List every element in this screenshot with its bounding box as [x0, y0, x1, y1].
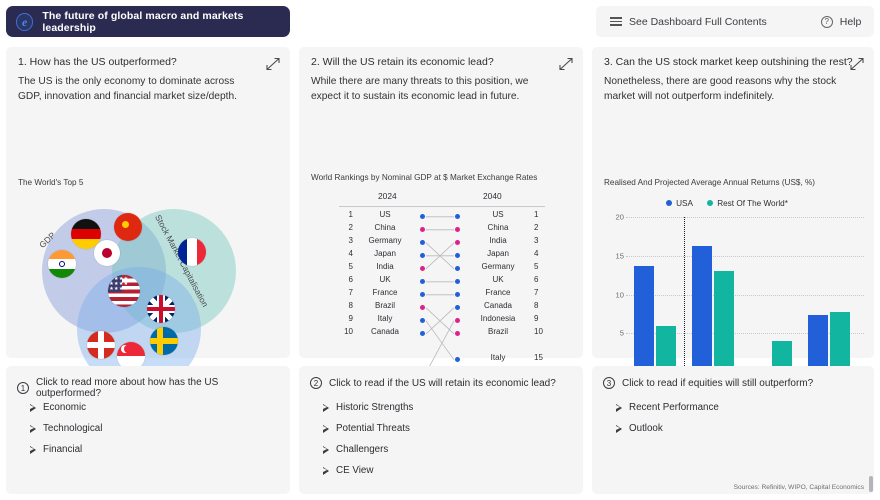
panel-how-has-us-outperformed[interactable]: 1. How has the US outperformed? The US i…: [6, 47, 290, 358]
header: e The future of global macro and markets…: [0, 0, 880, 44]
panel2-subtitle: While there are many threats to this pos…: [311, 74, 549, 104]
badge-number-1: 1: [17, 382, 29, 394]
list-item-label: Technological: [43, 423, 102, 434]
rank-dot-right: [455, 292, 460, 297]
expand-icon[interactable]: [849, 56, 865, 72]
capital-economics-logo-icon: e: [16, 13, 33, 31]
triangle-right-icon: [616, 425, 622, 433]
rank-dot-right: [455, 357, 460, 362]
panel-read-more-retain-lead[interactable]: 2 Click to read if the US will retain it…: [299, 366, 583, 494]
y-axis-tick: 5: [604, 329, 624, 338]
question-mark-icon: ?: [821, 16, 833, 28]
rank-row-right: Brazil10: [331, 327, 553, 340]
country-name-right: China: [465, 223, 531, 232]
bottom3-heading: Click to read if equities will still out…: [622, 378, 813, 389]
rank-row-right: Canada8: [331, 301, 553, 314]
flag-usa[interactable]: ★★★★★★★★★★★★: [108, 275, 140, 307]
see-dashboard-full-contents-button[interactable]: See Dashboard Full Contents: [610, 16, 767, 28]
triangle-right-icon: [323, 467, 329, 475]
flag-france[interactable]: [178, 238, 206, 266]
rank-dot-right: [455, 279, 460, 284]
y-axis-tick: 10: [604, 290, 624, 299]
returns-legend: USA Rest Of The World*: [592, 199, 874, 208]
bar-rest-of-world: [830, 312, 850, 372]
panel-will-us-retain-lead[interactable]: 2. Will the US retain its economic lead?…: [299, 47, 583, 358]
dashboard-title: The future of global macro and markets l…: [42, 10, 290, 34]
rank-number-right: 3: [534, 236, 546, 245]
rank-row-right: Italy15: [331, 353, 553, 366]
rank-dot-right: [455, 214, 460, 219]
rank-number-right: 1: [534, 210, 546, 219]
country-name-right: US: [465, 210, 531, 219]
panel-read-more-equities[interactable]: 3 Click to read if equities will still o…: [592, 366, 874, 494]
panel2-title: 2. Will the US retain its economic lead?: [311, 56, 494, 68]
rank-dot-right: [455, 266, 460, 271]
country-name-right: UK: [465, 275, 531, 284]
rank-number-right: 15: [534, 353, 546, 362]
badge-number-3: 3: [603, 377, 615, 389]
rankings-top-rule: [339, 206, 545, 207]
rank-row-right: Indonesia9: [331, 314, 553, 327]
bottom2-heading-row: 2 Click to read if the US will retain it…: [310, 377, 573, 389]
list-item-label: CE View: [336, 465, 373, 476]
triangle-right-icon: [30, 446, 36, 454]
list-item[interactable]: Recent Performance: [616, 402, 719, 413]
bar-usa: [692, 246, 712, 372]
panel1-title: 1. How has the US outperformed?: [18, 56, 177, 68]
panel3-title: 3. Can the US stock market keep outshini…: [604, 56, 853, 68]
panel1-chart-label: The World's Top 5: [18, 178, 83, 187]
rank-row-right: UK6: [331, 275, 553, 288]
list-item-label: Financial: [43, 444, 82, 455]
list-item[interactable]: Historic Strengths: [323, 402, 413, 413]
scrollbar-thumb[interactable]: [869, 476, 873, 492]
legend-dot-rest-of-world: [707, 200, 713, 206]
rank-number-right: 8: [534, 301, 546, 310]
rank-dot-right: [455, 331, 460, 336]
rank-row-right: Japan4: [331, 249, 553, 262]
list-item[interactable]: Financial: [30, 444, 82, 455]
country-name-right: Japan: [465, 249, 531, 258]
list-item[interactable]: Economic: [30, 402, 86, 413]
flag-switzerland[interactable]: [87, 331, 115, 359]
panel-read-more-outperformed[interactable]: 1 Click to read more about how has the U…: [6, 366, 290, 494]
list-item[interactable]: Potential Threats: [323, 423, 410, 434]
rank-number-right: 4: [534, 249, 546, 258]
rank-dot-right: [455, 305, 460, 310]
rank-dot-right: [455, 240, 460, 245]
list-item[interactable]: Outlook: [616, 423, 663, 434]
rank-number-right: 10: [534, 327, 546, 336]
flag-china[interactable]: [114, 213, 142, 241]
list-item[interactable]: CE View: [323, 465, 373, 476]
country-name-right: Brazil: [465, 327, 531, 336]
panel3-chart-label: Realised And Projected Average Annual Re…: [604, 178, 815, 187]
country-name-right: Italy: [465, 353, 531, 362]
rank-number-right: 7: [534, 288, 546, 297]
panel2-chart-label: World Rankings by Nominal GDP at $ Marke…: [311, 173, 537, 182]
flag-india[interactable]: [48, 250, 76, 278]
legend-label-rest-of-world: Rest Of The World*: [717, 199, 788, 208]
sources-note: Sources: Refinitiv, WIPO, Capital Econom…: [734, 484, 864, 491]
rank-row-right: Germany5: [331, 262, 553, 275]
bar-chart-plot-area: [626, 217, 858, 372]
contents-label: See Dashboard Full Contents: [629, 16, 767, 28]
list-item[interactable]: Technological: [30, 423, 102, 434]
column-header-2040: 2040: [483, 191, 502, 201]
brand-pill[interactable]: e The future of global macro and markets…: [6, 6, 290, 37]
triangle-right-icon: [323, 425, 329, 433]
column-header-2024: 2024: [378, 191, 397, 201]
rank-number-right: 9: [534, 314, 546, 323]
rankings-header: 2024 2040: [331, 191, 553, 206]
list-item-label: Potential Threats: [336, 423, 410, 434]
legend-label-usa: USA: [676, 199, 693, 208]
country-name-right: Germany: [465, 262, 531, 271]
panel-can-us-stock-market-outshine[interactable]: 3. Can the US stock market keep outshini…: [592, 47, 874, 358]
bottom2-heading: Click to read if the US will retain its …: [329, 378, 556, 389]
rank-row-right: India3: [331, 236, 553, 249]
rank-number-right: 6: [534, 275, 546, 284]
help-button[interactable]: ? Help: [821, 16, 862, 28]
country-name-right: India: [465, 236, 531, 245]
help-label: Help: [840, 16, 862, 28]
flag-japan[interactable]: [94, 240, 120, 266]
rank-dot-right: [455, 318, 460, 323]
bottom3-heading-row: 3 Click to read if equities will still o…: [603, 377, 864, 389]
list-item-label: Challengers: [336, 444, 388, 455]
dashboard-page: e The future of global macro and markets…: [0, 0, 880, 500]
flag-sweden[interactable]: [150, 327, 178, 355]
panel1-subtitle: The US is the only economy to dominate a…: [18, 74, 256, 104]
triangle-right-icon: [30, 404, 36, 412]
hamburger-icon: [610, 17, 622, 25]
rank-number-right: 5: [534, 262, 546, 271]
rank-row-right: France7: [331, 288, 553, 301]
rank-dot-right: [455, 227, 460, 232]
rank-row-right: China2: [331, 223, 553, 236]
bar-rest-of-world: [714, 271, 734, 372]
country-name-right: France: [465, 288, 531, 297]
rank-row-right: US1: [331, 210, 553, 223]
rank-number-right: 2: [534, 223, 546, 232]
country-name-right: Indonesia: [465, 314, 531, 323]
bottom1-heading: Click to read more about how has the US …: [36, 377, 280, 399]
legend-dot-usa: [666, 200, 672, 206]
rank-dot-right: [455, 253, 460, 258]
list-item-label: Economic: [43, 402, 86, 413]
triangle-right-icon: [30, 425, 36, 433]
bottom1-heading-row: 1 Click to read more about how has the U…: [17, 377, 280, 399]
y-axis-tick: 20: [604, 213, 624, 222]
list-item-label: Historic Strengths: [336, 402, 413, 413]
panel3-subtitle: Nonetheless, there are good reasons why …: [604, 74, 840, 104]
list-item-label: Outlook: [629, 423, 663, 434]
triangle-right-icon: [323, 404, 329, 412]
triangle-right-icon: [616, 404, 622, 412]
header-toolbar: See Dashboard Full Contents ? Help: [596, 6, 874, 37]
flag-uk[interactable]: [147, 295, 175, 323]
list-item-label: Recent Performance: [629, 402, 719, 413]
bar-usa: [808, 315, 828, 372]
bar-usa: [634, 266, 654, 372]
triangle-right-icon: [323, 446, 329, 454]
badge-number-2: 2: [310, 377, 322, 389]
y-axis-tick: 15: [604, 251, 624, 260]
expand-icon[interactable]: [558, 56, 574, 72]
list-item[interactable]: Challengers: [323, 444, 388, 455]
country-name-right: Canada: [465, 301, 531, 310]
expand-icon[interactable]: [265, 56, 281, 72]
